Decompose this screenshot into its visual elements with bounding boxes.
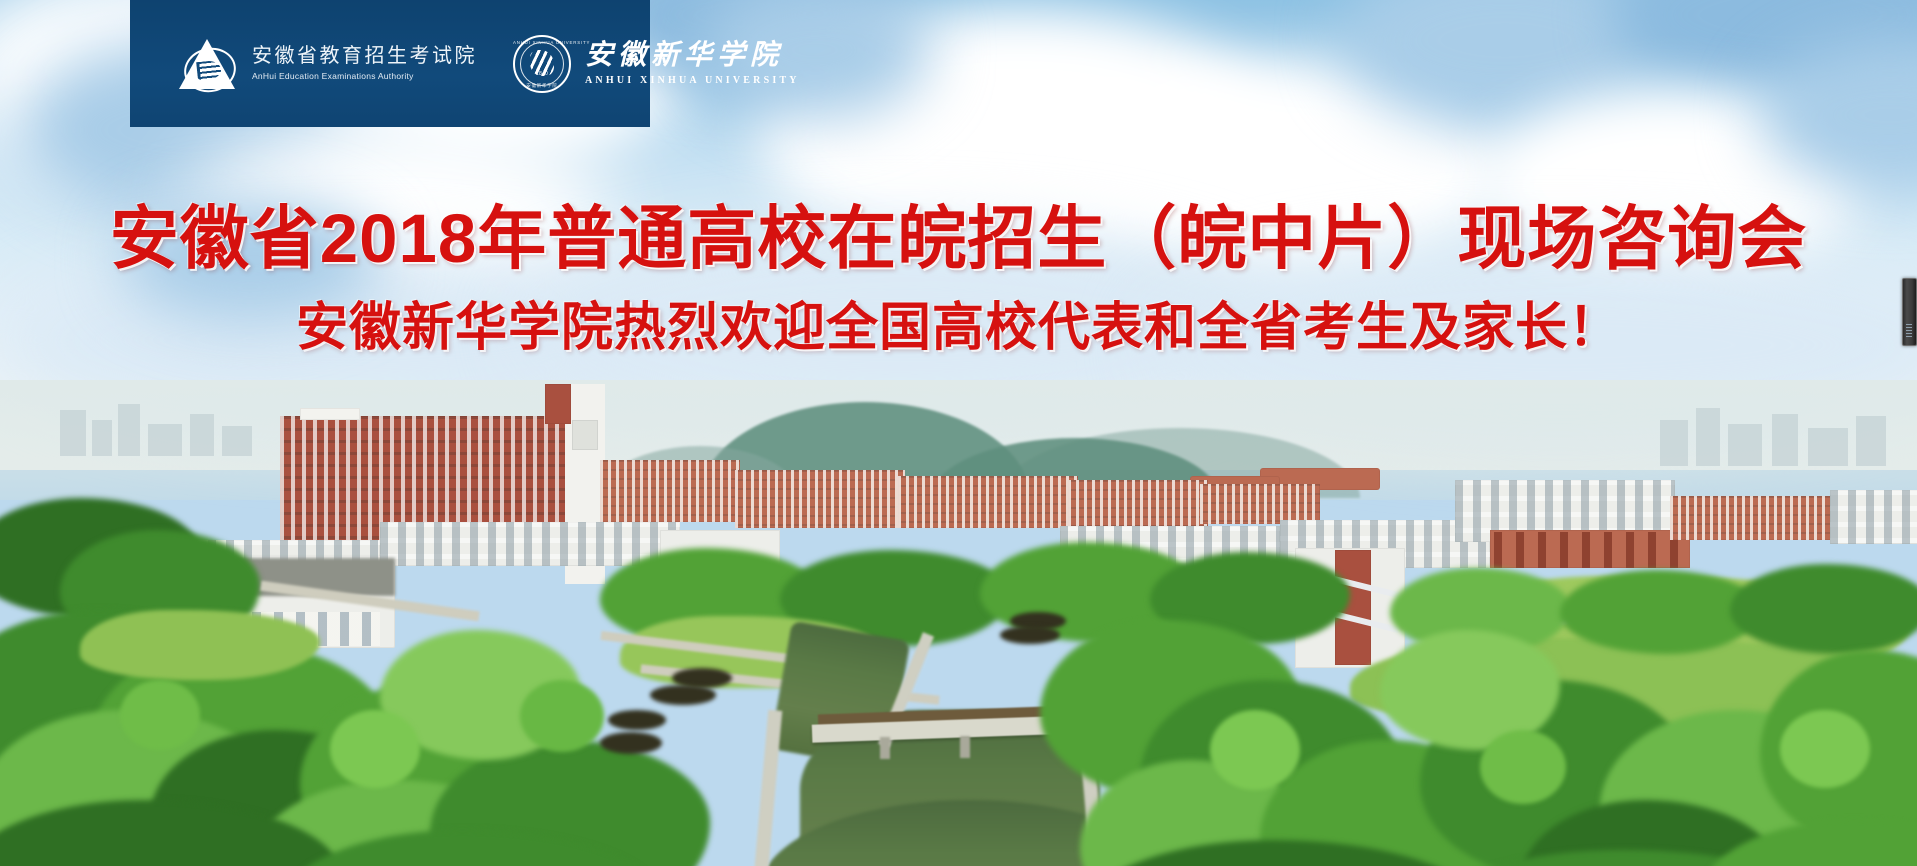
anhui-xinhua-university-seal-icon: ANHUI XINHUA UNIVERSITY 1840 安徽新华学院 [513,35,571,93]
seal-arc-top-text: ANHUI XINHUA UNIVERSITY [513,40,571,45]
campus-photo [0,380,1917,866]
logo-group-axu: ANHUI XINHUA UNIVERSITY 1840 安徽新华学院 安徽新华… [513,35,800,93]
scrollbar-grip-icon [1906,324,1912,338]
logo-group-aeea: 安徽省教育招生考试院 AnHui Education Examinations … [176,33,477,95]
axu-name-cn: 安徽新华学院 [585,41,800,70]
aeea-name-cn: 安徽省教育招生考试院 [252,46,477,67]
axu-name-en: ANHUI XINHUA UNIVERSITY [585,76,800,87]
event-title: 安徽省2018年普通高校在皖招生（皖中片）现场咨询会 [0,200,1917,277]
logo-text-aeea: 安徽省教育招生考试院 AnHui Education Examinations … [252,46,477,81]
headline-block: 安徽省2018年普通高校在皖招生（皖中片）现场咨询会 安徽新华学院热烈欢迎全国高… [0,200,1917,359]
sponsor-logo-bar: 安徽省教育招生考试院 AnHui Education Examinations … [130,0,650,127]
seal-arc-bottom-text: 安徽新华学院 [513,83,571,89]
event-welcome-message: 安徽新华学院热烈欢迎全国高校代表和全省考生及家长！ [0,299,1917,359]
logo-text-axu: 安徽新华学院 ANHUI XINHUA UNIVERSITY [585,41,800,87]
anhui-education-examinations-authority-logo-icon [176,33,238,95]
seal-year-text: 1840 [536,71,548,77]
aeea-name-en: AnHui Education Examinations Authority [252,72,477,81]
banner-page: 安徽省教育招生考试院 AnHui Education Examinations … [0,0,1917,866]
vertical-scrollbar-thumb[interactable] [1902,278,1917,346]
